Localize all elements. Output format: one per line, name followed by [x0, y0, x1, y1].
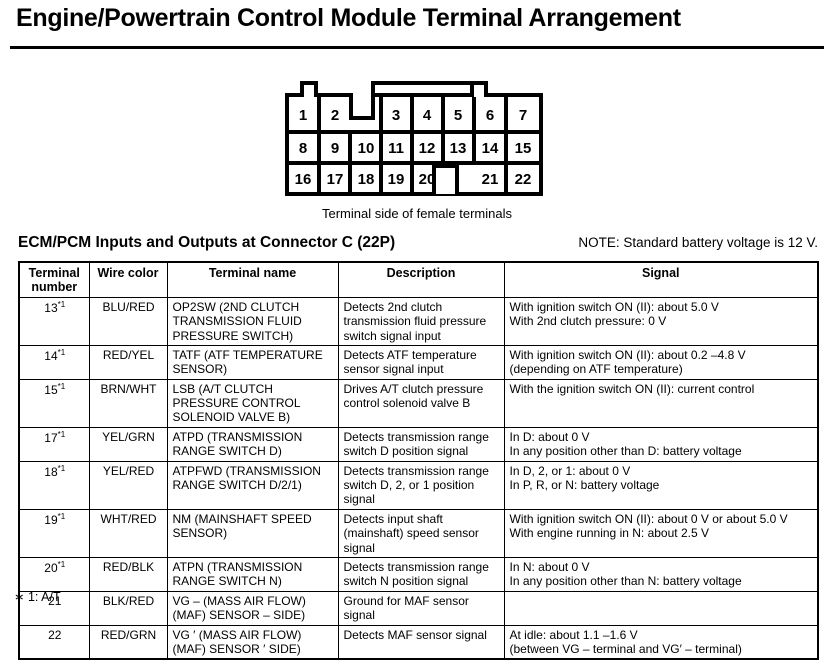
col-header-terminal-name: Terminal name: [167, 262, 338, 297]
cell-wire-color: YEL/GRN: [89, 427, 167, 461]
terminal-number-value: 13: [44, 301, 57, 315]
page-title: Engine/Powertrain Control Module Termina…: [16, 4, 818, 33]
table-row: 13*1BLU/REDOP2SW (2ND CLUTCHTRANSMISSION…: [19, 297, 818, 345]
footnote-at-marker: ∗ 1: A/T: [14, 589, 61, 604]
table-header-row: Terminal number Wire color Terminal name…: [19, 262, 818, 297]
table-row: 22RED/GRNVG ′ (MASS AIR FLOW)(MAF) SENSO…: [19, 625, 818, 659]
col-header-description: Description: [338, 262, 504, 297]
cell-signal: [504, 591, 818, 625]
section-title: ECM/PCM Inputs and Outputs at Connector …: [18, 234, 395, 252]
cell-terminal-number: 13*1: [19, 297, 89, 345]
pin-11: 11: [388, 140, 404, 157]
footnote-marker: *1: [58, 512, 66, 521]
pin-2: 2: [331, 107, 339, 124]
pin-12: 12: [419, 140, 436, 157]
cell-terminal-name: TATF (ATF TEMPERATURESENSOR): [167, 345, 338, 379]
cell-signal: In D, 2, or 1: about 0 VIn P, R, or N: b…: [504, 461, 818, 509]
terminals-table-wrap: Terminal number Wire color Terminal name…: [18, 261, 817, 660]
pin-4: 4: [423, 107, 432, 124]
cell-wire-color: WHT/RED: [89, 509, 167, 557]
pin-19: 19: [388, 171, 405, 188]
footnote-marker: *1: [58, 348, 66, 357]
connector-caption: Terminal side of female terminals: [0, 206, 834, 221]
pin-20: 20: [419, 171, 436, 188]
cell-terminal-name: ATPD (TRANSMISSIONRANGE SWITCH D): [167, 427, 338, 461]
col-header-signal: Signal: [504, 262, 818, 297]
terminal-number-value: 19: [44, 513, 57, 527]
table-row: 21BLK/REDVG – (MASS AIR FLOW)(MAF) SENSO…: [19, 591, 818, 625]
cell-signal: At idle: about 1.1 –1.6 V(between VG – t…: [504, 625, 818, 659]
cell-terminal-number: 14*1: [19, 345, 89, 379]
pin-17: 17: [327, 171, 344, 188]
cell-description: Detects input shaft(mainshaft) speed sen…: [338, 509, 504, 557]
cell-description: Ground for MAF sensorsignal: [338, 591, 504, 625]
cell-terminal-name: OP2SW (2ND CLUTCHTRANSMISSION FLUIDPRESS…: [167, 297, 338, 345]
pin-5: 5: [454, 107, 462, 124]
terminal-number-value: 18: [44, 465, 57, 479]
cell-wire-color: BRN/WHT: [89, 379, 167, 427]
cell-wire-color: RED/YEL: [89, 345, 167, 379]
table-body: 13*1BLU/REDOP2SW (2ND CLUTCHTRANSMISSION…: [19, 297, 818, 659]
pin-22: 22: [515, 171, 532, 188]
footnote-marker: *1: [58, 382, 66, 391]
cell-terminal-name: VG – (MASS AIR FLOW)(MAF) SENSOR – SIDE): [167, 591, 338, 625]
cell-signal: With the ignition switch ON (II): curren…: [504, 379, 818, 427]
cell-terminal-number: 22: [19, 625, 89, 659]
table-row: 18*1YEL/REDATPFWD (TRANSMISSIONRANGE SWI…: [19, 461, 818, 509]
terminal-number-value: 14: [44, 349, 57, 363]
pin-10: 10: [358, 140, 375, 157]
footnote-marker: *1: [58, 300, 66, 309]
table-row: 19*1WHT/REDNM (MAINSHAFT SPEEDSENSOR)Det…: [19, 509, 818, 557]
title-divider: [10, 46, 824, 49]
col-header-wire-color: Wire color: [89, 262, 167, 297]
cell-description: Detects transmission rangeswitch D posit…: [338, 427, 504, 461]
cell-signal: In D: about 0 VIn any position other tha…: [504, 427, 818, 461]
cell-terminal-name: LSB (A/T CLUTCHPRESSURE CONTROLSOLENOID …: [167, 379, 338, 427]
cell-terminal-number: 20*1: [19, 558, 89, 592]
pin-9: 9: [331, 140, 339, 157]
cell-description: Detects transmission rangeswitch D, 2, o…: [338, 461, 504, 509]
section-header: ECM/PCM Inputs and Outputs at Connector …: [18, 234, 818, 256]
terminal-number-value: 15: [44, 383, 57, 397]
battery-voltage-note: NOTE: Standard battery voltage is 12 V.: [578, 235, 818, 250]
cell-signal: With ignition switch ON (II): about 5.0 …: [504, 297, 818, 345]
cell-description: Drives A/T clutch pressurecontrol soleno…: [338, 379, 504, 427]
pin-13: 13: [450, 140, 467, 157]
connector-diagram: 1 2 3 4 5 6 7 8 9 10 11 12 13 14 15 16 1…: [285, 78, 543, 196]
terminal-number-value: 22: [48, 628, 61, 642]
cell-terminal-name: ATPFWD (TRANSMISSIONRANGE SWITCH D/2/1): [167, 461, 338, 509]
terminal-number-value: 17: [44, 431, 57, 445]
footnote-marker: *1: [58, 560, 66, 569]
pin-3: 3: [392, 107, 400, 124]
cell-terminal-name: VG ′ (MASS AIR FLOW)(MAF) SENSOR ′ SIDE): [167, 625, 338, 659]
pin-1: 1: [299, 107, 307, 124]
cell-wire-color: YEL/RED: [89, 461, 167, 509]
cell-wire-color: RED/BLK: [89, 558, 167, 592]
footnote-marker: *1: [58, 464, 66, 473]
footnote-marker: *1: [58, 430, 66, 439]
pin-21: 21: [482, 171, 499, 188]
table-row: 17*1YEL/GRNATPD (TRANSMISSIONRANGE SWITC…: [19, 427, 818, 461]
connector-outline-svg: 1 2 3 4 5 6 7 8 9 10 11 12 13 14 15 16 1…: [285, 78, 543, 196]
connector-bottom-notch: [434, 166, 457, 194]
col-header-terminal-number: Terminal number: [19, 262, 89, 297]
table-row: 14*1RED/YELTATF (ATF TEMPERATURESENSOR)D…: [19, 345, 818, 379]
cell-signal: With ignition switch ON (II): about 0 V …: [504, 509, 818, 557]
cell-description: Detects ATF temperaturesensor signal inp…: [338, 345, 504, 379]
cell-description: Detects transmission rangeswitch N posit…: [338, 558, 504, 592]
cell-description: Detects 2nd clutchtransmission fluid pre…: [338, 297, 504, 345]
cell-signal: In N: about 0 VIn any position other tha…: [504, 558, 818, 592]
terminals-table: Terminal number Wire color Terminal name…: [18, 261, 819, 660]
cell-terminal-name: ATPN (TRANSMISSIONRANGE SWITCH N): [167, 558, 338, 592]
table-row: 20*1RED/BLKATPN (TRANSMISSIONRANGE SWITC…: [19, 558, 818, 592]
pin-8: 8: [299, 140, 307, 157]
pin-15: 15: [515, 140, 532, 157]
cell-terminal-name: NM (MAINSHAFT SPEEDSENSOR): [167, 509, 338, 557]
pin-14: 14: [482, 140, 499, 157]
table-row: 15*1BRN/WHTLSB (A/T CLUTCHPRESSURE CONTR…: [19, 379, 818, 427]
pin-7: 7: [519, 107, 527, 124]
cell-wire-color: RED/GRN: [89, 625, 167, 659]
cell-terminal-number: 17*1: [19, 427, 89, 461]
cell-terminal-number: 19*1: [19, 509, 89, 557]
pin-18: 18: [358, 171, 375, 188]
cell-wire-color: BLU/RED: [89, 297, 167, 345]
cell-terminal-number: 18*1: [19, 461, 89, 509]
cell-wire-color: BLK/RED: [89, 591, 167, 625]
cell-description: Detects MAF sensor signal: [338, 625, 504, 659]
pin-6: 6: [486, 107, 494, 124]
cell-signal: With ignition switch ON (II): about 0.2 …: [504, 345, 818, 379]
cell-terminal-number: 15*1: [19, 379, 89, 427]
terminal-number-value: 20: [44, 561, 57, 575]
pin-16: 16: [295, 171, 312, 188]
